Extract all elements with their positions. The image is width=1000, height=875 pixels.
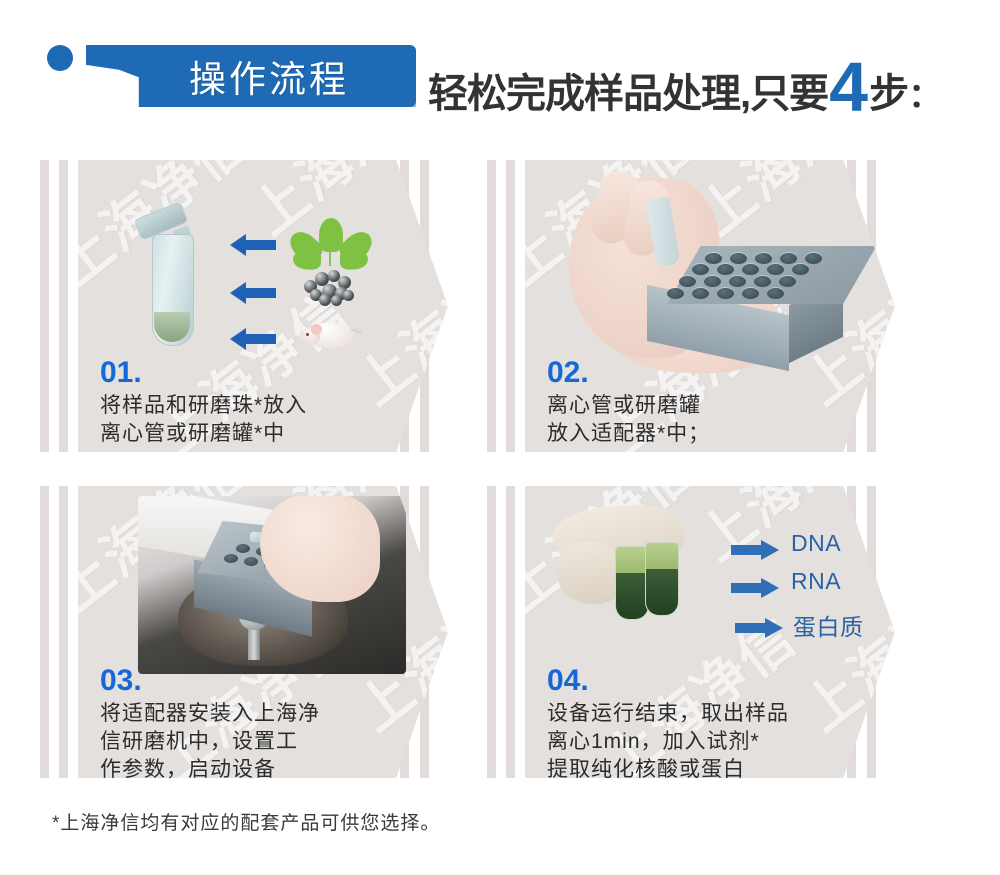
- card-accent-bar: [506, 486, 515, 778]
- photo-loading-grinder: [138, 496, 406, 674]
- card-accent-bar: [40, 160, 49, 452]
- step-number: 03.: [100, 664, 142, 698]
- headline-text-c: ：: [908, 68, 942, 117]
- step-card-01: 上海净信 上海净信 上海净信 上海净信: [40, 160, 520, 460]
- step-caption: 设备运行结束，取出样品 离心1min，加入试剂* 提取纯化核酸或蛋白: [547, 700, 789, 784]
- step-caption: 将样品和研磨珠*放入 离心管或研磨罐*中: [100, 392, 307, 448]
- headline-step-count: 4: [829, 52, 868, 122]
- step-number: 01.: [100, 356, 142, 390]
- arrow-right-icon: [731, 578, 779, 598]
- headline: 轻松完成样品处理,只要 4 步 ：: [428, 48, 942, 110]
- headline-text-b: 步: [869, 61, 908, 119]
- adapter-block-icon: [667, 246, 843, 356]
- arrow-left-icon: [230, 328, 276, 350]
- step-caption: 将适配器安装入上海净 信研磨机中，设置工 作参数，启动设备: [100, 700, 320, 784]
- step-card-02: 上海净信 上海净信 上海净信 上海净信: [487, 160, 967, 460]
- green-leaf-icon: [304, 216, 358, 266]
- photo-gloved-hand-vials: [553, 502, 743, 632]
- headline-text-a: 轻松完成样品处理,只要: [428, 61, 828, 119]
- step-card-03: 上海净信 上海净信 上海净信 上海净信: [40, 486, 520, 786]
- white-mouse-icon: [300, 316, 360, 352]
- tab-dot-icon: [47, 45, 73, 71]
- sample-vial-icon: [645, 542, 679, 616]
- arrow-right-icon: [731, 540, 779, 560]
- footnote: *上海净信均有对应的配套产品可供您选择。: [52, 808, 440, 835]
- card-accent-bar: [59, 160, 68, 452]
- sample-vial-icon: [615, 546, 649, 620]
- section-tab-label: 操作流程: [86, 45, 416, 107]
- step-card-04: 上海净信 上海净信 上海净信 上海净信 DNA: [487, 486, 967, 786]
- card-accent-bar: [59, 486, 68, 778]
- grinding-beads-icon: [302, 266, 358, 306]
- photo-hand-with-adapter: [559, 168, 859, 388]
- step-number: 04.: [547, 664, 589, 698]
- step-number: 02.: [547, 356, 589, 390]
- card-accent-bar: [40, 486, 49, 778]
- page-header: 操作流程 轻松完成样品处理,只要 4 步 ：: [0, 0, 1000, 140]
- output-label-dna: DNA: [791, 530, 841, 557]
- arrow-left-icon: [230, 234, 276, 256]
- centrifuge-tube-icon: [138, 208, 204, 358]
- arrow-left-icon: [230, 282, 276, 304]
- steps-grid: 上海净信 上海净信 上海净信 上海净信: [0, 146, 1000, 786]
- card-accent-bar: [506, 160, 515, 452]
- card-accent-bar: [487, 160, 496, 452]
- arrow-right-icon: [735, 618, 783, 638]
- output-label-protein: 蛋白质: [793, 608, 864, 642]
- card-accent-bar: [487, 486, 496, 778]
- promo-page: 操作流程 轻松完成样品处理,只要 4 步 ： 上海净信 上海净信 上海净信 上海…: [0, 0, 1000, 875]
- output-label-rna: RNA: [791, 568, 841, 595]
- step-caption: 离心管或研磨罐 放入适配器*中；: [547, 392, 710, 448]
